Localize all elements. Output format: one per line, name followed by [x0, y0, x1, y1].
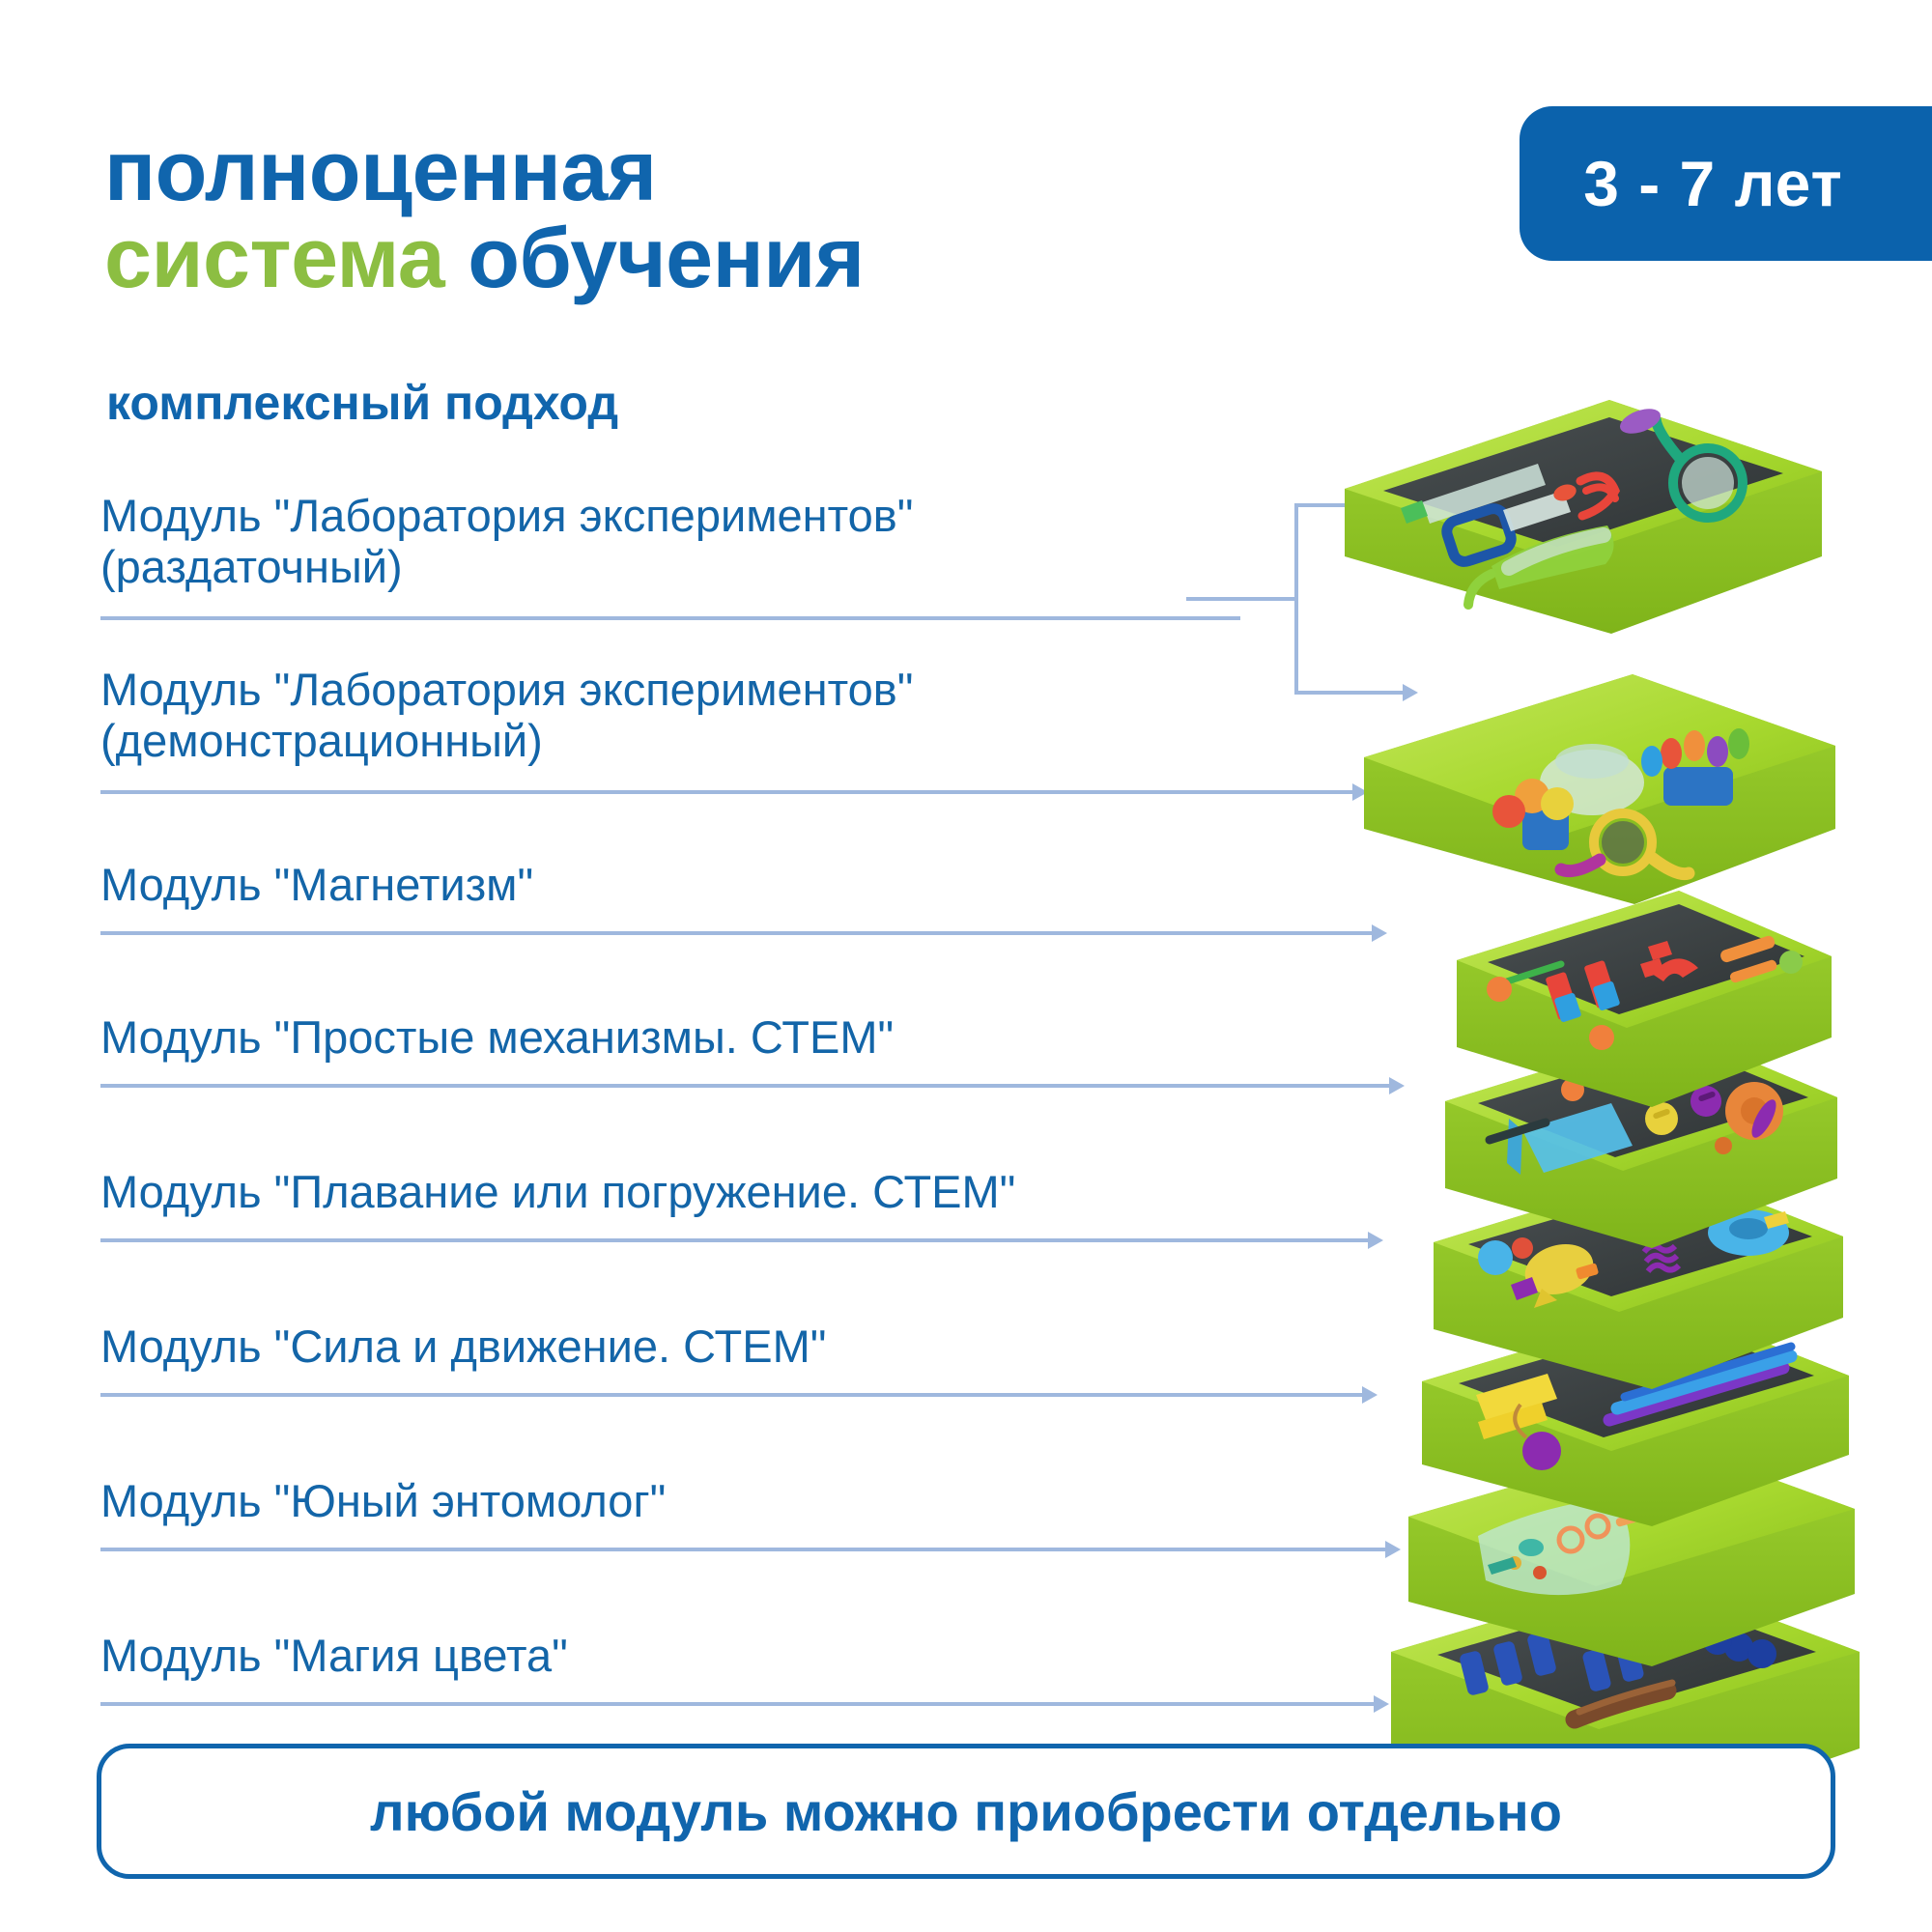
- module-label: Модуль "Лаборатория экспериментов" (демо…: [100, 665, 1366, 766]
- module-rule: [100, 1702, 1374, 1706]
- module-rule: [100, 1084, 1389, 1088]
- module-label: Модуль "Сила и движение. СТЕМ": [100, 1321, 1385, 1373]
- module-item-laboratoriya-demonstratsionny[interactable]: Модуль "Лаборатория экспериментов" (демо…: [100, 665, 1366, 766]
- footer-banner: любой модуль можно приобрести отдельно: [97, 1744, 1835, 1879]
- module-item-laboratoriya-razdatochny[interactable]: Модуль "Лаборатория экспериментов" (разд…: [100, 491, 1240, 592]
- footer-banner-label: любой модуль можно приобрести отдельно: [370, 1780, 1562, 1843]
- module-item-sila-i-dvizhenie-stem[interactable]: Модуль "Сила и движение. СТЕМ": [100, 1321, 1385, 1373]
- module-label: Модуль "Юный энтомолог": [100, 1476, 1385, 1527]
- module-rule: [100, 1548, 1385, 1551]
- module-rule: [100, 616, 1240, 620]
- module-rule: [100, 1393, 1362, 1397]
- module-rule: [100, 790, 1352, 794]
- module-label: Модуль "Лаборатория экспериментов" (разд…: [100, 491, 1240, 592]
- module-item-magiya-tsveta[interactable]: Модуль "Магия цвета": [100, 1631, 1385, 1682]
- module-item-plavanie-ili-pogruzhenie-stem[interactable]: Модуль "Плавание или погружение. СТЕМ": [100, 1167, 1385, 1218]
- module-label: Модуль "Магнетизм": [100, 860, 1385, 911]
- module-item-magnetizm[interactable]: Модуль "Магнетизм": [100, 860, 1385, 911]
- module-label: Модуль "Плавание или погружение. СТЕМ": [100, 1167, 1385, 1218]
- module-label: Модуль "Простые механизмы. СТЕМ": [100, 1012, 1405, 1064]
- module-rule: [100, 931, 1372, 935]
- module-item-prostye-mehanizmy-stem[interactable]: Модуль "Простые механизмы. СТЕМ": [100, 1012, 1405, 1064]
- product-image-stacked-boxes: [1333, 367, 1874, 1835]
- module-rule: [100, 1238, 1368, 1242]
- module-label: Модуль "Магия цвета": [100, 1631, 1385, 1682]
- module-item-yuny-entomolog[interactable]: Модуль "Юный энтомолог": [100, 1476, 1385, 1527]
